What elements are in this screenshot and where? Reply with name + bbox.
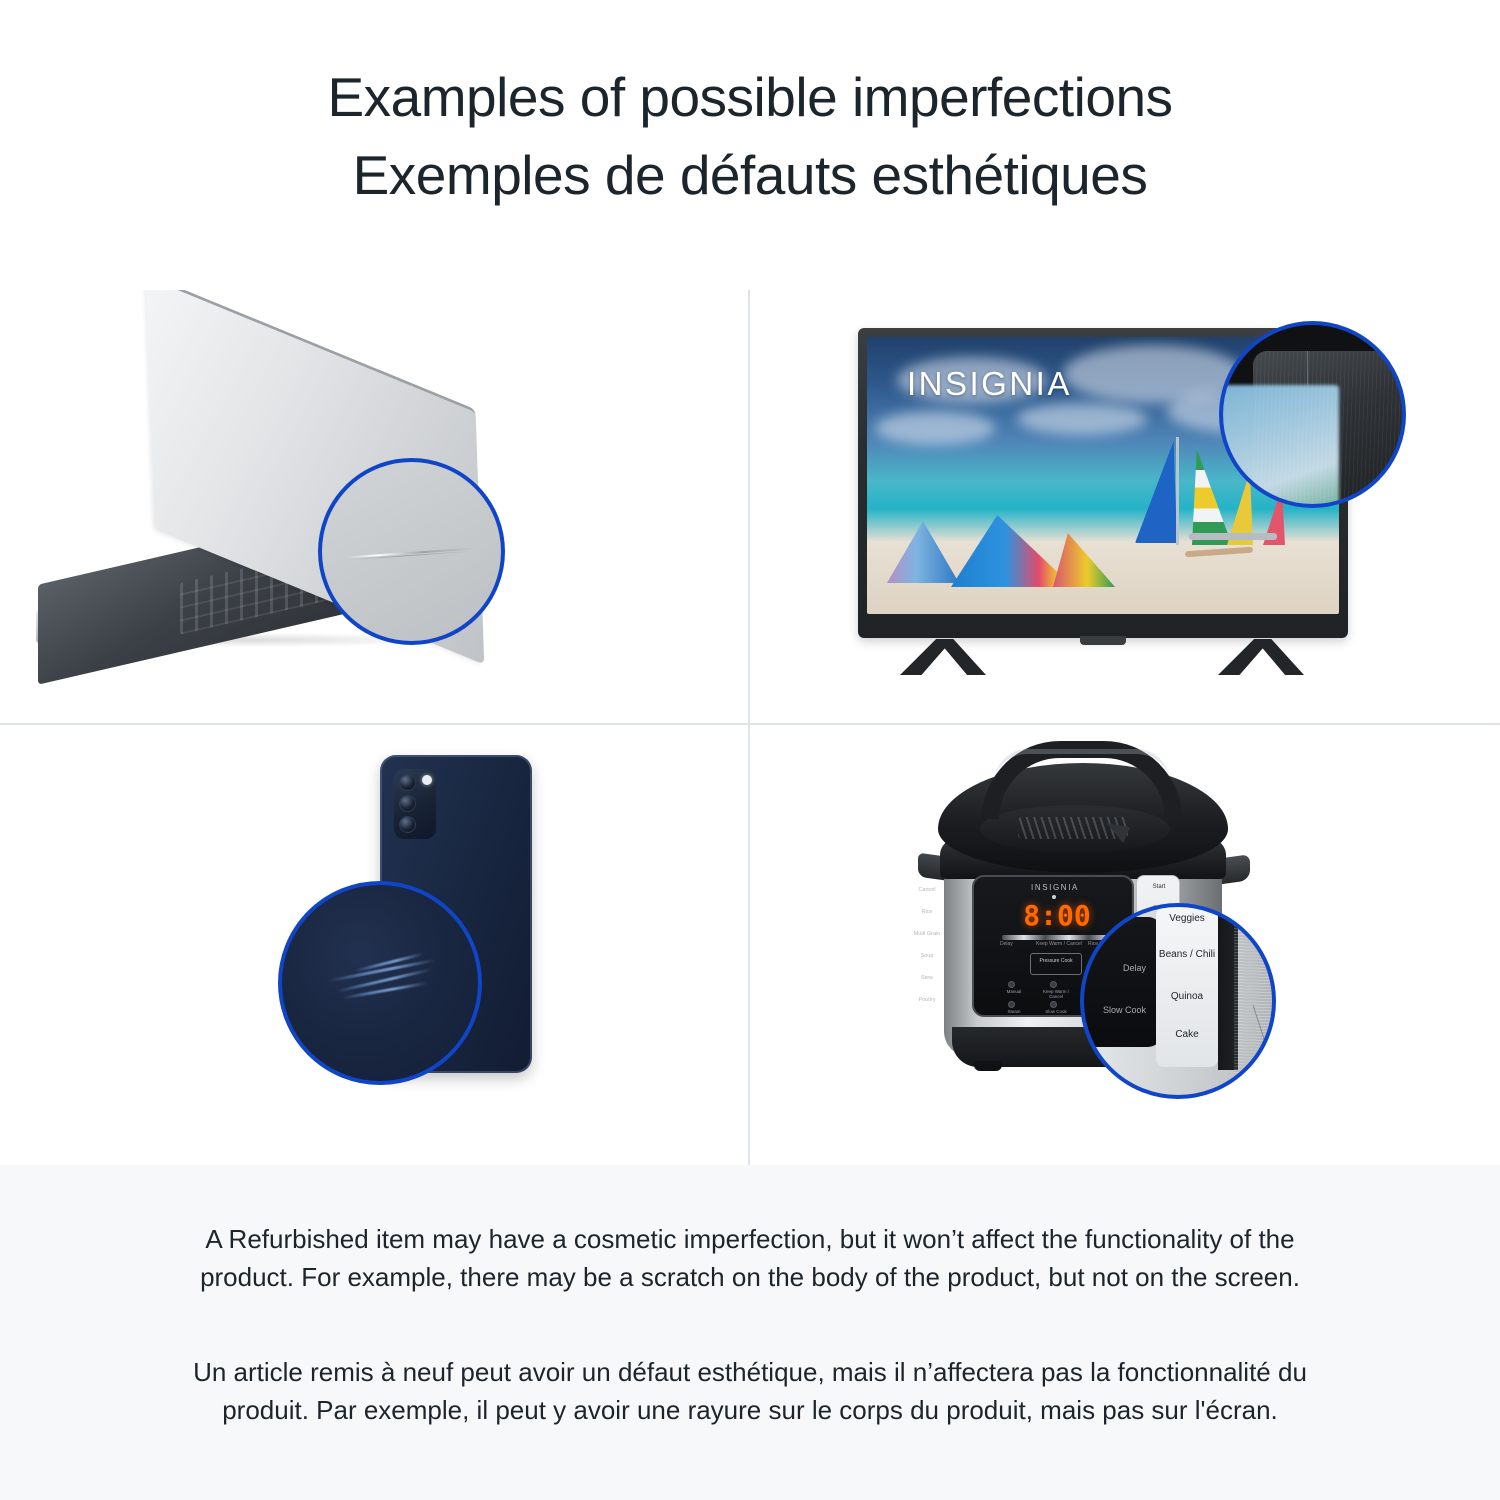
phone-camera-lens: [399, 816, 416, 833]
example-cell-laptop: [0, 290, 748, 723]
example-cell-phone: [0, 725, 748, 1165]
television-leg-left: [900, 639, 986, 675]
page-title-english: Examples of possible imperfections: [327, 66, 1172, 128]
phone-flash-icon: [422, 775, 432, 785]
cooker-left-button[interactable]: Multi Grain: [912, 931, 942, 937]
television-illustration: INSIGNIA: [858, 328, 1368, 688]
caption-french: Un article remis à neuf peut avoir un dé…: [160, 1353, 1340, 1429]
refurbished-imperfections-infographic: Examples of possible imperfections Exemp…: [0, 0, 1500, 1500]
beach-tent-left: [887, 521, 959, 583]
cooker-button-label: Slow Cook: [1042, 1009, 1070, 1014]
television-leg-right: [1218, 639, 1304, 675]
product-examples-grid: INSIGNIA: [0, 290, 1500, 1165]
caption-english: A Refurbished item may have a cosmetic i…: [160, 1220, 1340, 1296]
laptop-illustration: [30, 345, 550, 695]
phone-camera-lens: [399, 795, 416, 812]
cooker-button-dot[interactable]: [1050, 981, 1057, 988]
cooker-left-button[interactable]: Cancel: [912, 887, 942, 893]
page-title: Examples of possible imperfections Exemp…: [0, 58, 1500, 214]
television-screen-logo: INSIGNIA: [907, 365, 1072, 403]
cooker-handle-highlight: [994, 749, 1170, 783]
cloud-shape: [1017, 403, 1147, 435]
cloud-shape: [875, 411, 995, 445]
cooker-button-dot[interactable]: [1008, 981, 1015, 988]
sailboat-blue: [1135, 441, 1177, 543]
television-ir-sensor-icon: [1080, 636, 1126, 645]
cooker-foot: [974, 1061, 1002, 1071]
cooker-mode-label: Keep Warm / Cancel: [1036, 941, 1082, 947]
caption-band: A Refurbished item may have a cosmetic i…: [0, 1165, 1500, 1500]
phone-illustration: [240, 755, 530, 1125]
cooker-mode-label: Delay: [1000, 941, 1013, 947]
cooker-button-label: Steam: [1000, 1009, 1028, 1014]
cooker-button-label: Manual: [1000, 989, 1028, 994]
beach-tent-center: [951, 515, 1073, 587]
beach-object: [1185, 547, 1253, 558]
television-magnifier-circle-icon: [1219, 321, 1406, 508]
cooker-brand-label: INSIGNIA: [1000, 883, 1110, 892]
cooker-button-label: Keep Warm / Cancel: [1042, 989, 1070, 999]
beach-tent-right: [1053, 533, 1115, 587]
cooker-side-button[interactable]: Start: [1140, 884, 1178, 891]
cooker-left-button[interactable]: Soup: [912, 953, 942, 959]
cooker-left-button[interactable]: Stew: [912, 975, 942, 981]
phone-camera-lens: [399, 774, 416, 791]
example-cell-cooker: INSIGNIA 8:00 Delay Keep Warm / Cancel R…: [750, 725, 1500, 1165]
television-bottom-bezel: [858, 618, 1348, 638]
sailboat-mast: [1176, 437, 1179, 545]
sailboat-hull: [1189, 533, 1277, 540]
cooker-magnifier-circle-icon: [1080, 903, 1276, 1099]
cooker-pressure-cook-button[interactable]: Pressure Cook: [1030, 953, 1082, 975]
cooker-left-button[interactable]: Rice: [912, 909, 942, 915]
example-cell-television: INSIGNIA: [750, 290, 1500, 723]
cooker-button-dot[interactable]: [1008, 1001, 1015, 1008]
laptop-magnifier-circle-icon: [318, 458, 505, 645]
phone-magnifier-circle-icon: [278, 881, 482, 1085]
cooker-left-button[interactable]: Poultry: [912, 997, 942, 1003]
page-title-french: Exemples de défauts esthétiques: [0, 136, 1500, 214]
cooker-button-dot[interactable]: [1050, 1001, 1057, 1008]
cooker-illustration: INSIGNIA 8:00 Delay Keep Warm / Cancel R…: [910, 735, 1310, 1135]
